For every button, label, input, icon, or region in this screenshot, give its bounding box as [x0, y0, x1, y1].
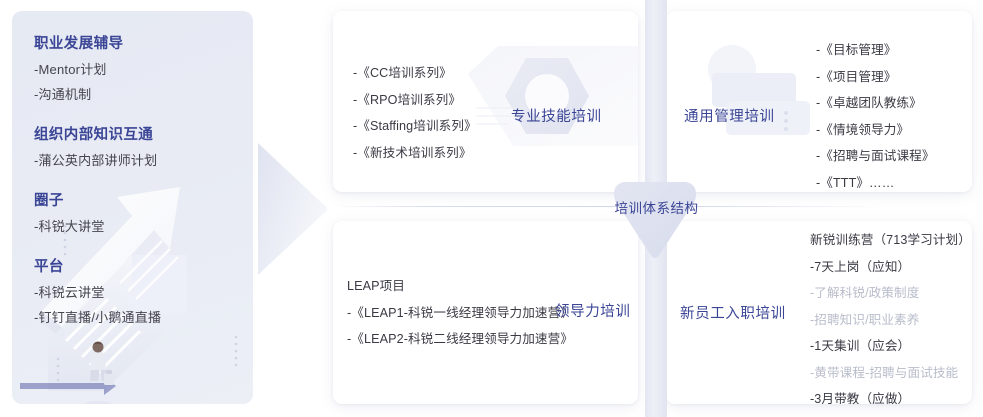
card-item-list: 新锐训练营（713学习计划） -7天上岗（应知） -了解科锐/政策制度 -招聘知…	[810, 227, 971, 404]
list-item: -《情境领导力》	[816, 117, 935, 144]
list-item: -《卓越团队教练》	[816, 90, 935, 117]
server-rack-icon	[686, 41, 826, 161]
list-item: -黄带课程-招聘与面试技能	[810, 360, 971, 387]
left-group-item: -科锐大讲堂	[34, 214, 243, 239]
left-group-item: -蒲公英内部讲师计划	[34, 148, 243, 173]
list-item: -《目标管理》	[816, 37, 935, 64]
card-category-label: 领导力培训	[555, 300, 631, 321]
list-item: -《TTT》……	[816, 170, 935, 193]
list-item: -《招聘与面试课程》	[816, 143, 935, 170]
left-group-0: 职业发展辅导 -Mentor计划 -沟通机制	[34, 31, 243, 107]
person-figure	[85, 342, 114, 405]
center-node-label: 培训体系结构	[604, 197, 709, 217]
left-group-heading: 圈子	[34, 188, 243, 214]
list-item: -7天上岗（应知）	[810, 254, 971, 281]
left-group-item: -Mentor计划	[34, 57, 243, 82]
training-system-diagram: 职业发展辅导 -Mentor计划 -沟通机制 组织内部知识互通 -蒲公英内部讲师…	[0, 0, 983, 417]
card-item-list: -《目标管理》 -《项目管理》 -《卓越团队教练》 -《情境领导力》 -《招聘与…	[816, 37, 935, 192]
card-item-list: LEAP项目 -《LEAP1-科锐一线经理领导力加速营》 -《LEAP2-科锐二…	[347, 273, 573, 353]
list-item: -《CC培训系列》	[353, 60, 477, 87]
left-group-heading: 组织内部知识互通	[34, 122, 243, 148]
card-category-label: 通用管理培训	[684, 105, 775, 126]
left-group-1: 组织内部知识互通 -蒲公英内部讲师计划	[34, 122, 243, 173]
card-category-label: 新员工入职培训	[680, 302, 786, 323]
list-item: -3月带教（应做）	[810, 386, 971, 404]
left-group-heading: 职业发展辅导	[34, 31, 243, 57]
list-item: 新锐训练营（713学习计划）	[810, 227, 971, 254]
list-item: -《项目管理》	[816, 64, 935, 91]
left-group-2: 圈子 -科锐大讲堂	[34, 188, 243, 239]
left-group-3: 平台 -科锐云讲堂 -钉钉直播/小鹅通直播	[34, 254, 243, 330]
list-item: -《LEAP1-科锐一线经理领导力加速营》	[347, 300, 573, 327]
hexagon-icon	[468, 46, 638, 161]
list-item: -《Staffing培训系列》	[353, 113, 477, 140]
list-item: -招聘知识/职业素养	[810, 307, 971, 334]
list-item: -1天集训（应会）	[810, 333, 971, 360]
list-item: -《RPO培训系列》	[353, 87, 477, 114]
card-category-label: 专业技能培训	[511, 105, 602, 126]
right-arrow-connector	[258, 143, 334, 275]
list-item: -《新技术培训系列》	[353, 140, 477, 167]
left-group-item: -沟通机制	[34, 82, 243, 107]
left-group-item: -钉钉直播/小鹅通直播	[34, 305, 243, 330]
list-item: -《LEAP2-科锐二线经理领导力加速营》	[347, 326, 573, 353]
card-item-list: -《CC培训系列》 -《RPO培训系列》 -《Staffing培训系列》 -《新…	[353, 60, 477, 166]
left-group-heading: 平台	[34, 254, 243, 280]
left-group-item: -科锐云讲堂	[34, 280, 243, 305]
list-item: -了解科锐/政策制度	[810, 280, 971, 307]
list-item: LEAP项目	[347, 273, 573, 300]
left-panel: 职业发展辅导 -Mentor计划 -沟通机制 组织内部知识互通 -蒲公英内部讲师…	[12, 11, 253, 404]
